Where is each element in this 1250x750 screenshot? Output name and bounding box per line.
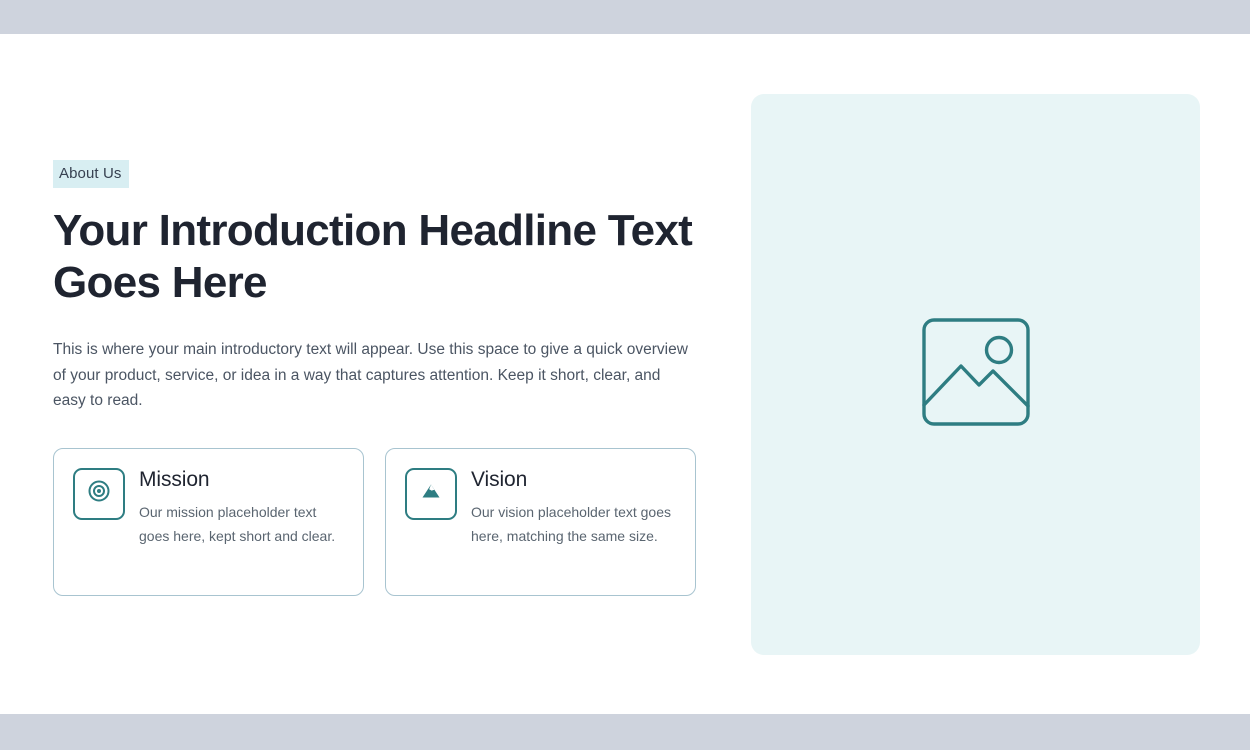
intro-paragraph: This is where your main introductory tex…: [53, 337, 690, 414]
mission-card-body: Mission Our mission placeholder text goe…: [139, 466, 345, 549]
feature-card-vision[interactable]: Vision Our vision placeholder text goes …: [385, 448, 696, 596]
mountain-icon: [418, 478, 444, 509]
vision-card-title: Vision: [471, 467, 677, 493]
browser-chrome-top-bar: [0, 0, 1250, 34]
vision-icon-box: [405, 468, 457, 520]
vision-card-text: Our vision placeholder text goes here, m…: [471, 500, 677, 549]
mission-icon-box: [73, 468, 125, 520]
about-content-column: About Us Your Introduction Headline Text…: [53, 160, 713, 596]
mission-card-title: Mission: [139, 467, 345, 493]
mission-card-text: Our mission placeholder text goes here, …: [139, 500, 345, 549]
vision-card-body: Vision Our vision placeholder text goes …: [471, 466, 677, 549]
media-placeholder-panel[interactable]: [751, 94, 1200, 655]
image-placeholder-icon: [921, 317, 1031, 432]
browser-chrome-bottom-bar: [0, 714, 1250, 750]
target-icon: [86, 478, 112, 509]
feature-cards-row: Mission Our mission placeholder text goe…: [53, 448, 713, 596]
about-us-section: About Us Your Introduction Headline Text…: [0, 34, 1250, 714]
feature-card-mission[interactable]: Mission Our mission placeholder text goe…: [53, 448, 364, 596]
page-canvas: About Us Your Introduction Headline Text…: [0, 34, 1250, 714]
page-title: Your Introduction Headline Text Goes Her…: [53, 205, 693, 309]
eyebrow-badge: About Us: [53, 160, 129, 188]
